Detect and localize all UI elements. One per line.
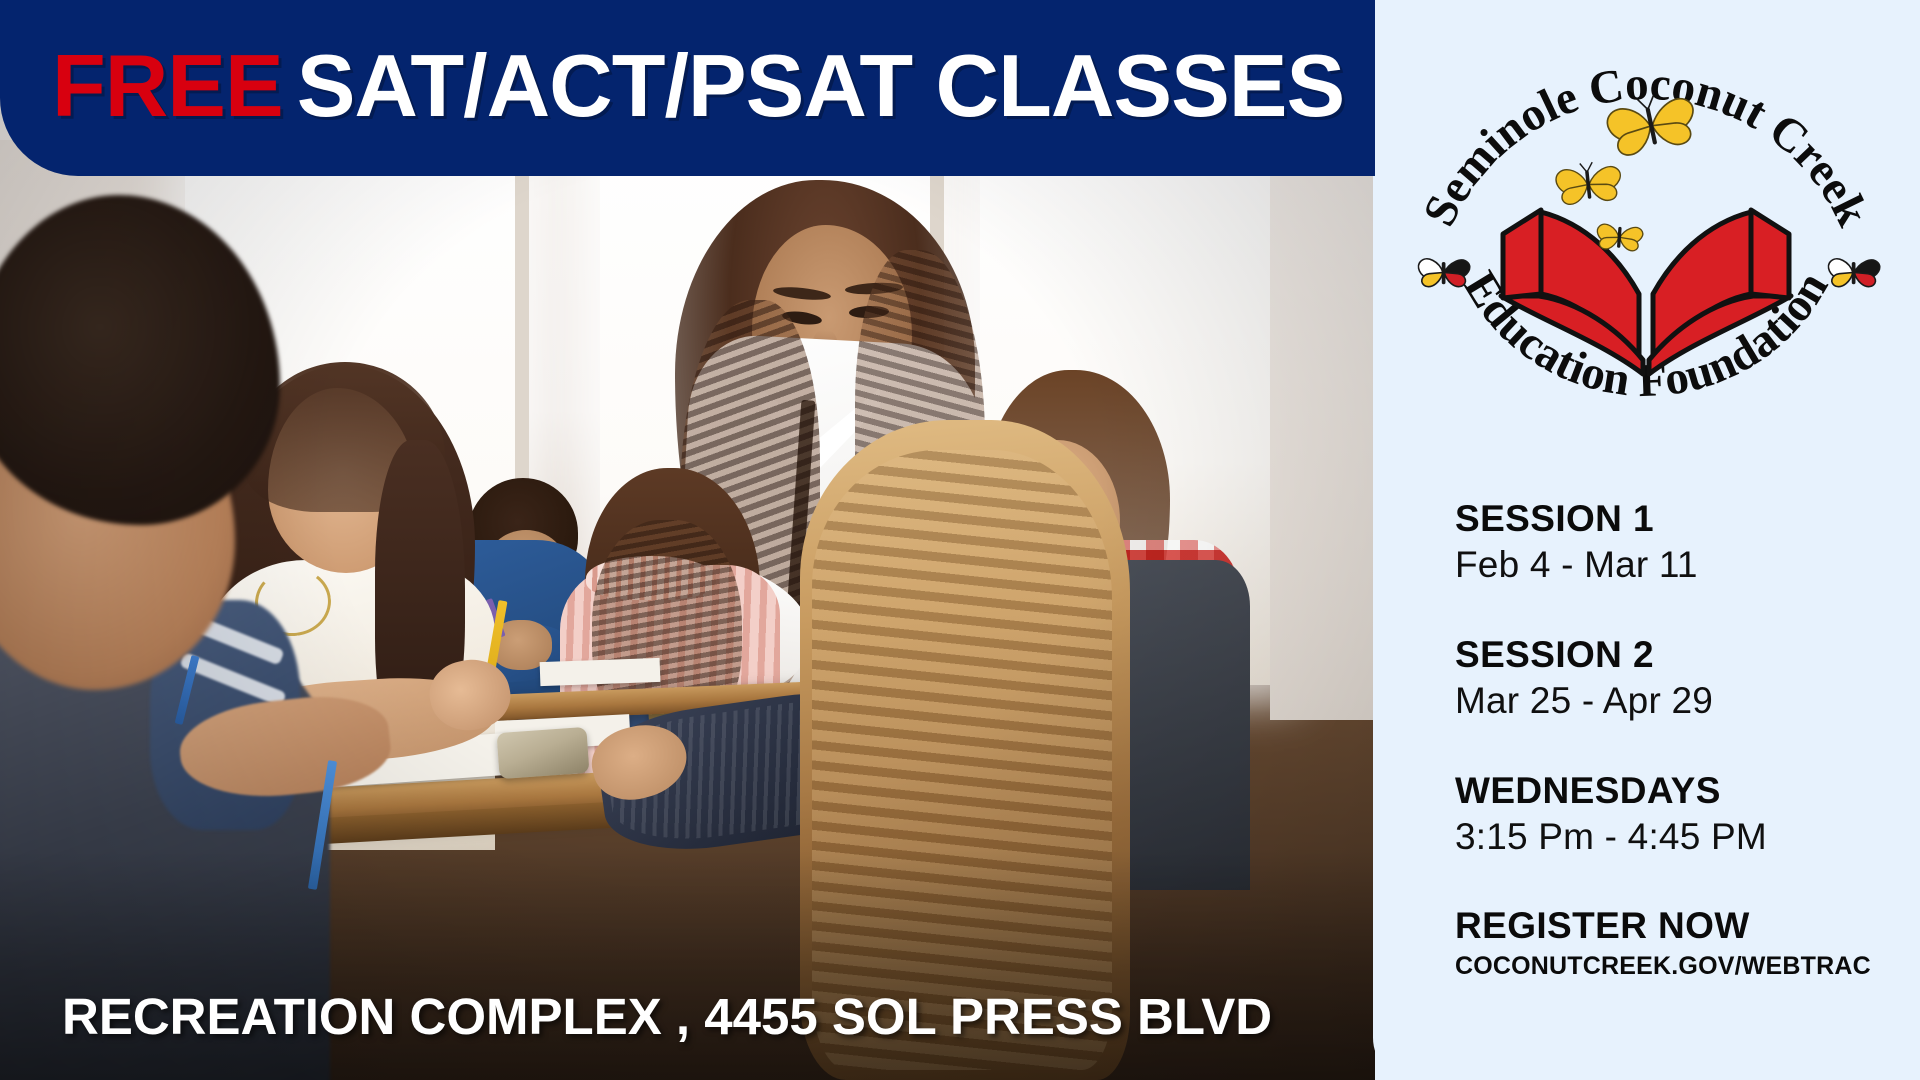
- register-url[interactable]: COCONUTCREEK.GOV/WEBTRAC: [1455, 952, 1895, 981]
- butterfly-seminole-left-icon: [1418, 259, 1469, 287]
- butterfly-seminole-right-icon: [1828, 259, 1879, 287]
- session-2-heading: SESSION 2: [1455, 634, 1895, 675]
- register-heading: REGISTER NOW: [1455, 905, 1895, 946]
- banner-free-word: FREE: [52, 36, 283, 135]
- session-1-heading: SESSION 1: [1455, 498, 1895, 539]
- info-block-register: REGISTER NOW COCONUTCREEK.GOV/WEBTRAC: [1455, 905, 1895, 980]
- session-info-list: SESSION 1 Feb 4 - Mar 11 SESSION 2 Mar 2…: [1455, 498, 1895, 981]
- class-time: 3:15 Pm - 4:45 PM: [1455, 815, 1895, 859]
- session-2-dates: Mar 25 - Apr 29: [1455, 679, 1895, 723]
- info-block-weekday: WEDNESDAYS 3:15 Pm - 4:45 PM: [1455, 770, 1895, 860]
- banner-title-text: SAT/ACT/PSAT CLASSES: [297, 36, 1344, 135]
- butterfly-yellow-small-icon: [1596, 224, 1643, 252]
- pencil-case: [497, 727, 590, 779]
- info-side-panel: Seminole Coconut Creek Education Foundat…: [1373, 0, 1920, 1080]
- butterfly-yellow-medium-icon: [1555, 159, 1623, 205]
- weekday-heading: WEDNESDAYS: [1455, 770, 1895, 811]
- logo-top-arc-text: Seminole Coconut Creek: [1413, 58, 1879, 235]
- logo-svg: Seminole Coconut Creek Education Foundat…: [1391, 2, 1901, 460]
- organization-logo: Seminole Coconut Creek Education Foundat…: [1391, 2, 1901, 460]
- paper-back: [540, 658, 661, 686]
- student-blonde-hair-texture: [812, 450, 1112, 1070]
- venue-address: RECREATION COMPLEX , 4455 SOL PRESS BLVD: [62, 987, 1272, 1046]
- header-banner: FREESAT/ACT/PSAT CLASSES: [0, 0, 1375, 176]
- wall-right: [1270, 120, 1375, 720]
- info-block-session-1: SESSION 1 Feb 4 - Mar 11: [1455, 498, 1895, 588]
- banner-title: FREESAT/ACT/PSAT CLASSES: [52, 42, 1344, 130]
- flyer-canvas: FREESAT/ACT/PSAT CLASSES RECREATION COMP…: [0, 0, 1920, 1080]
- session-1-dates: Feb 4 - Mar 11: [1455, 543, 1895, 587]
- info-block-session-2: SESSION 2 Mar 25 - Apr 29: [1455, 634, 1895, 724]
